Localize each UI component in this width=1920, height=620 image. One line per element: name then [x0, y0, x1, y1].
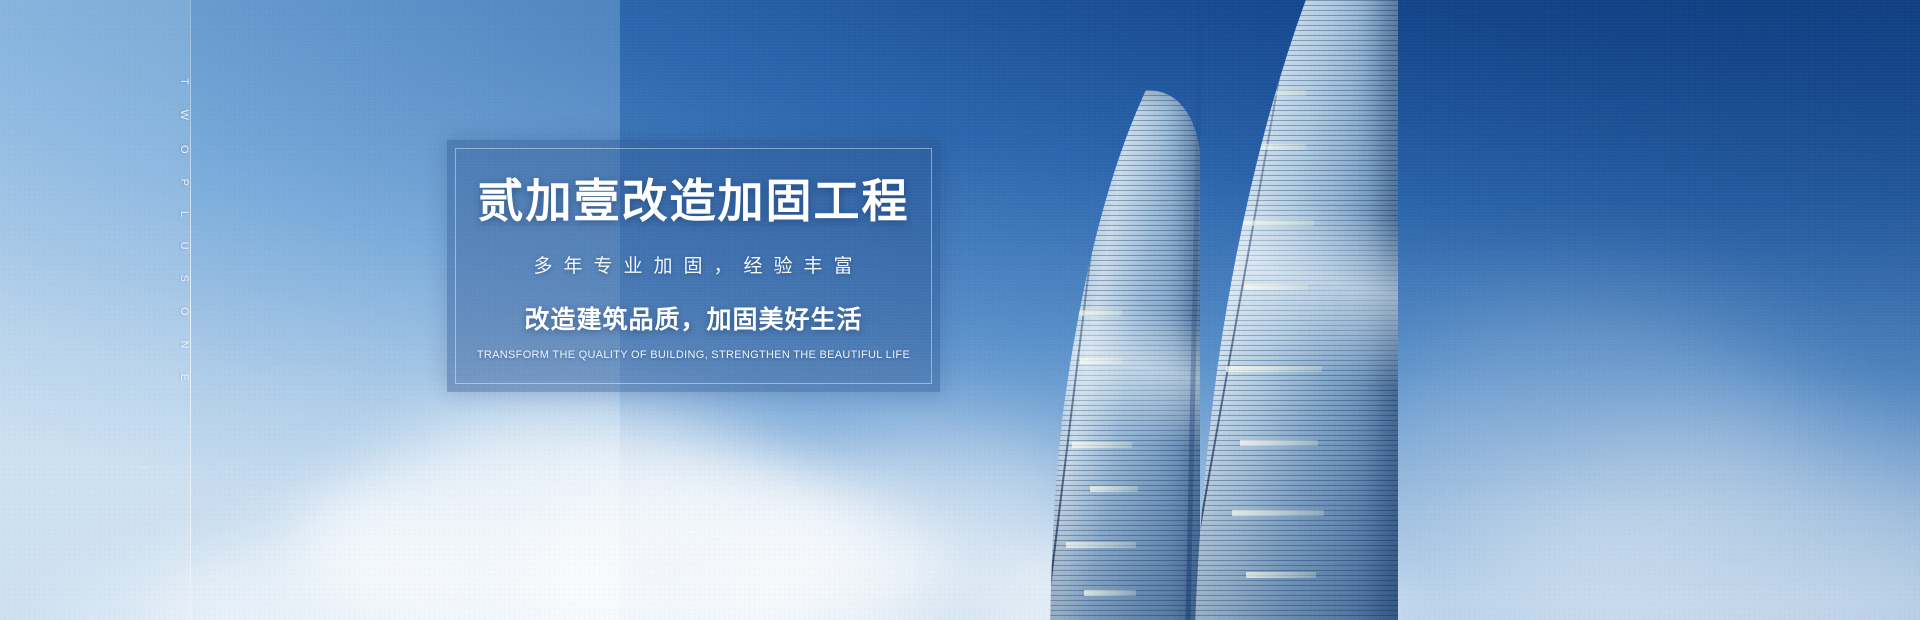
- subheadline: 多年专业加固，经验丰富: [533, 251, 863, 278]
- slogan-chinese: 改造建筑品质，加固美好生活: [524, 300, 862, 336]
- left-tint-panel: [0, 0, 190, 620]
- slogan-english: TRANSFORM THE QUALITY OF BUILDING, STREN…: [477, 349, 910, 361]
- skyscrapers-group: [1040, 0, 1460, 620]
- curved-glass-tower-left: [1050, 90, 1200, 620]
- vertical-brand-text: T W O P L U S O N E: [178, 78, 190, 392]
- brand-tick-mark: |: [138, 466, 148, 469]
- cloud-layer: [0, 0, 1920, 620]
- hero-banner: T W O P L U S O N E | 贰加壹改造加固工程 多年专业加固，经…: [0, 0, 1920, 620]
- headline-panel: 贰加壹改造加固工程 多年专业加固，经验丰富 改造建筑品质，加固美好生活 TRAN…: [447, 140, 940, 392]
- page-title: 贰加壹改造加固工程: [478, 177, 910, 225]
- curved-glass-tower-right: [1188, 0, 1398, 620]
- vertical-divider-line: [190, 0, 191, 620]
